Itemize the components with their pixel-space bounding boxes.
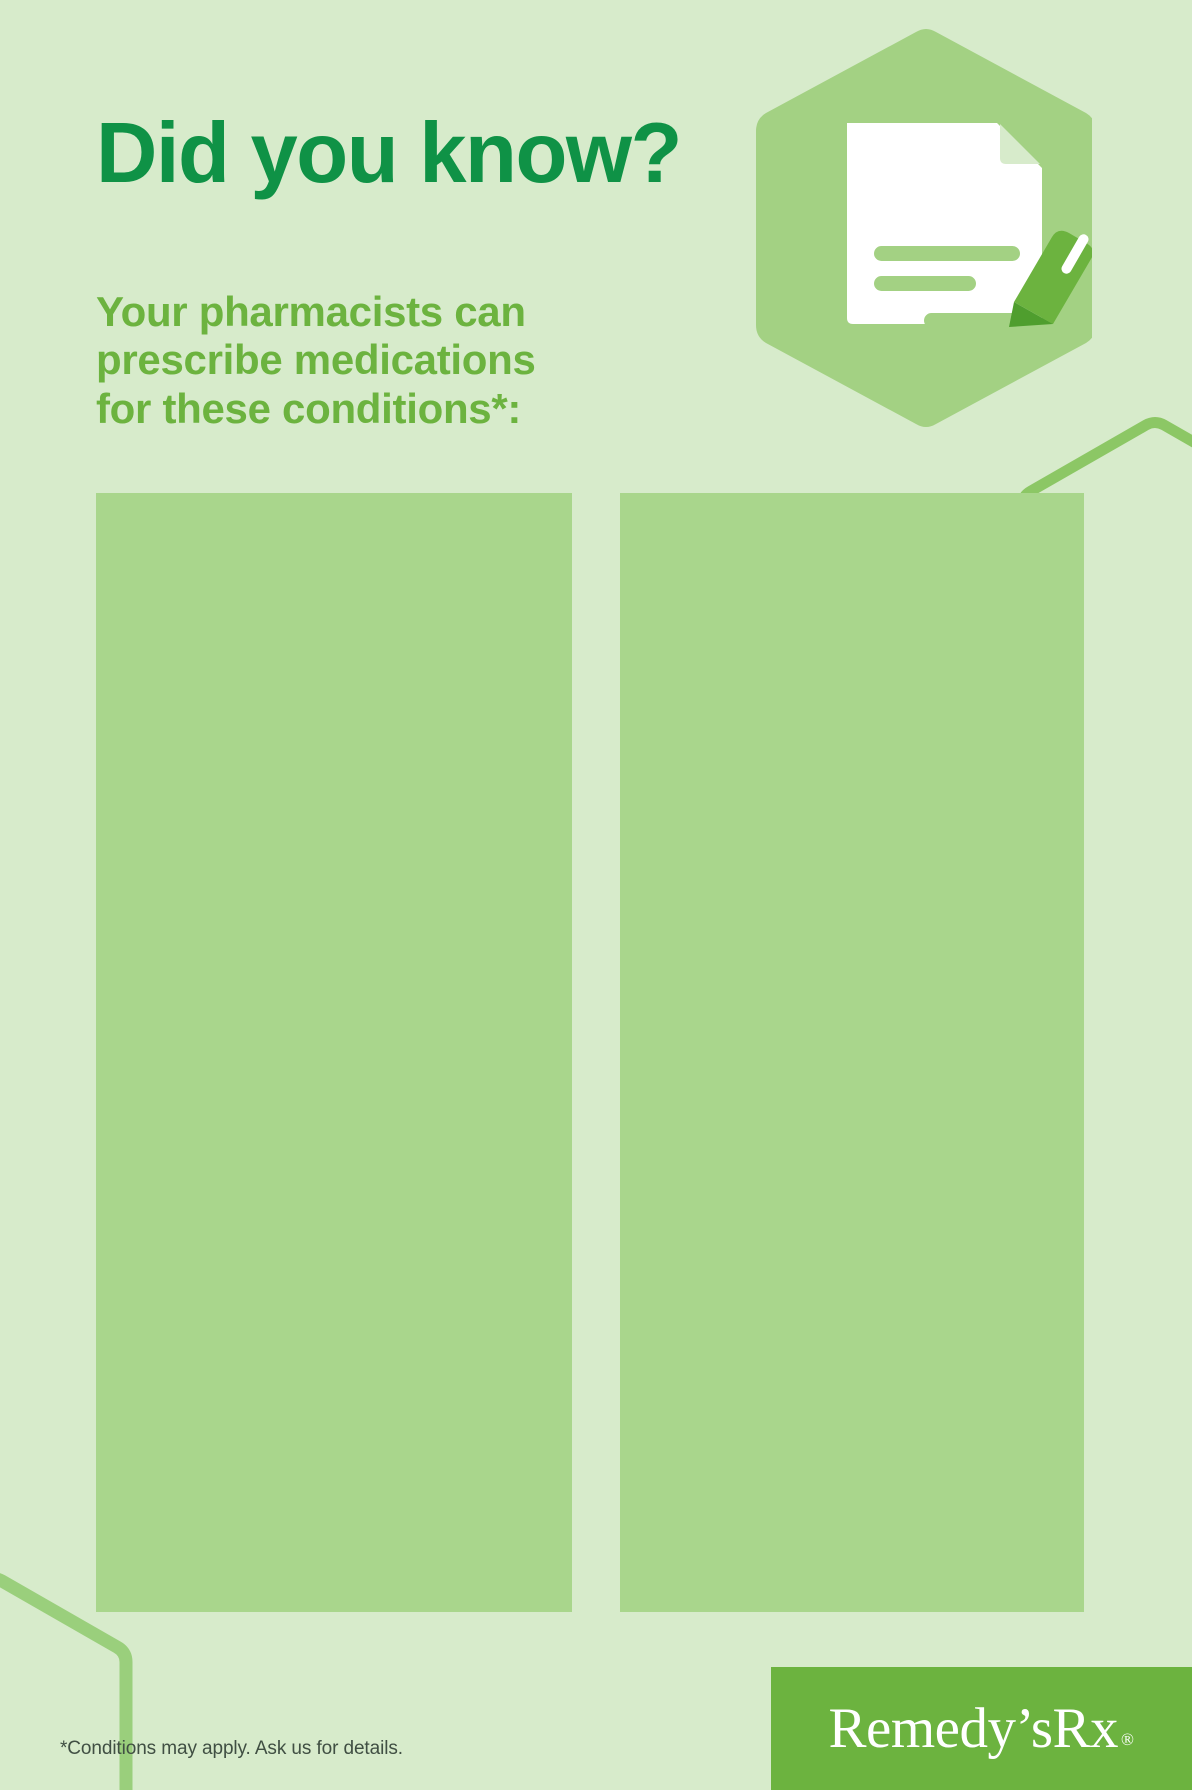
poster-canvas: Did you know? Your pharmacists can presc… <box>0 0 1192 1790</box>
conditions-column-left <box>96 493 572 1612</box>
brand-wordmark-text: Remedy’sRx <box>829 1697 1119 1760</box>
brand-wordmark: Remedy’sRx® <box>829 1700 1135 1757</box>
subheading-line-3: for these conditions*: <box>96 385 656 433</box>
subheading-line-2: prescribe medications <box>96 336 656 384</box>
registered-trademark-mark: ® <box>1121 1730 1133 1749</box>
conditions-column-right <box>620 493 1084 1612</box>
conditions-panel-group <box>96 493 1084 1612</box>
poster-headline: Did you know? <box>96 112 756 195</box>
prescription-document-icon <box>752 28 1092 428</box>
brand-logo-bar: Remedy’sRx® <box>771 1667 1192 1790</box>
headline-text: Did you know? <box>96 112 756 195</box>
footnote-disclaimer: *Conditions may apply. Ask us for detail… <box>60 1738 403 1760</box>
poster-subheading: Your pharmacists can prescribe medicatio… <box>96 288 656 433</box>
subheading-line-1: Your pharmacists can <box>96 288 656 336</box>
